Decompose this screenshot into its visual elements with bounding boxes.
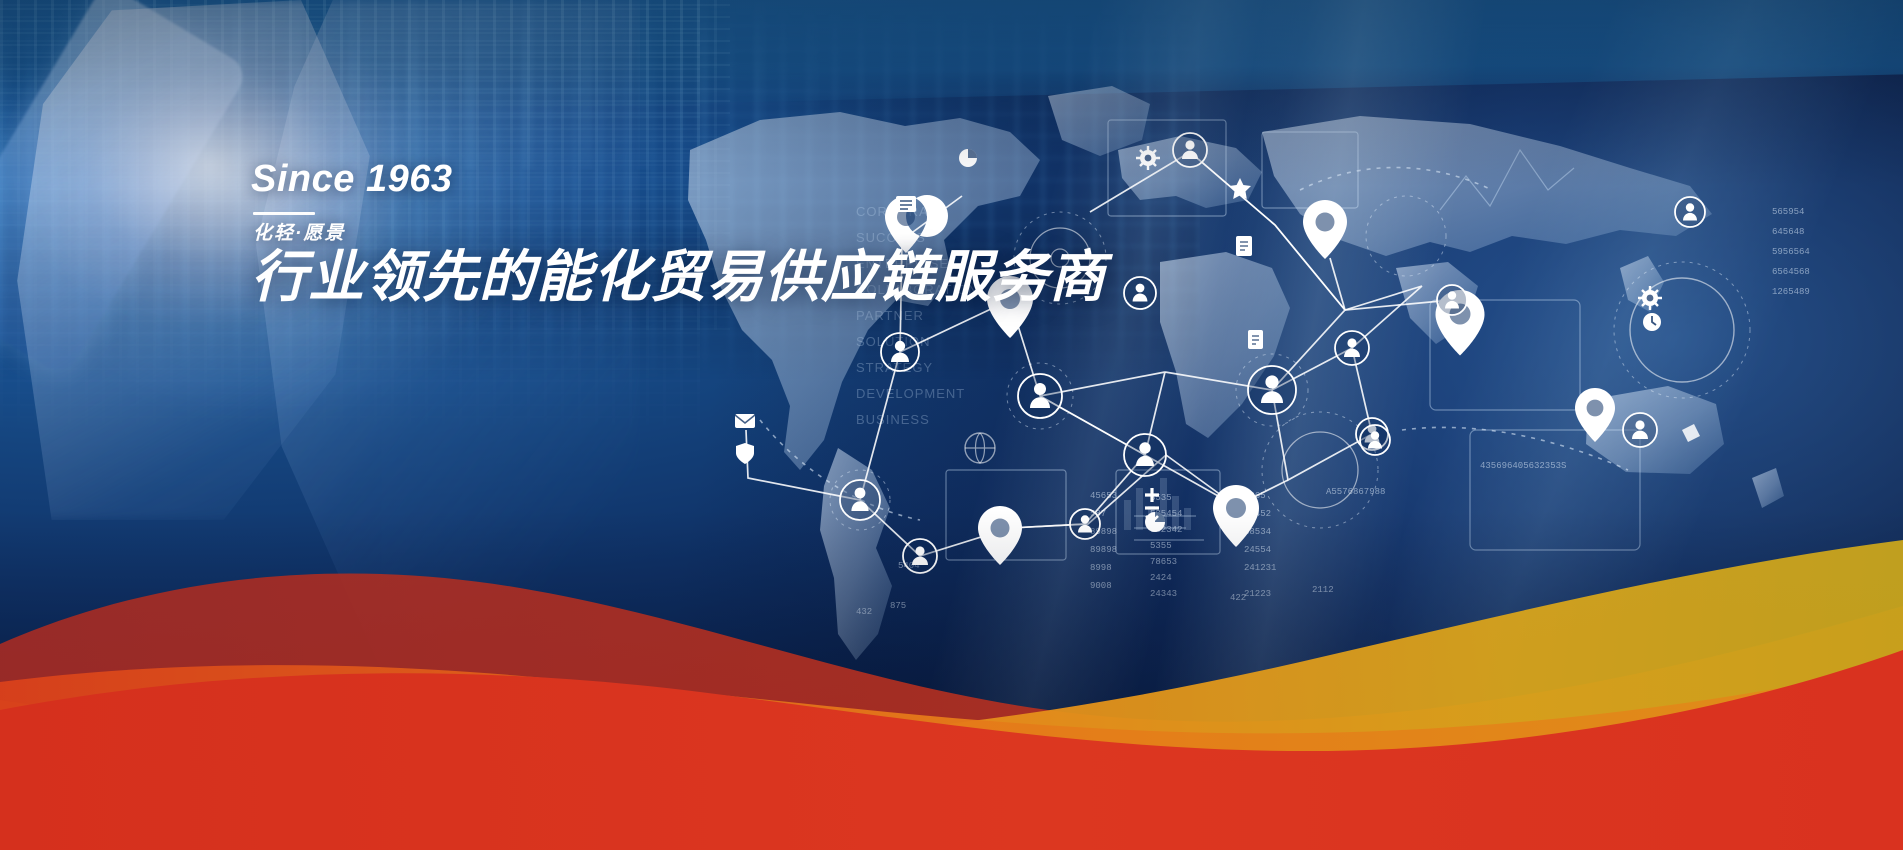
horizontal-rule [253,212,315,215]
wave-decoration [0,0,1903,850]
hero-banner: CORPORATE SUCCESS ENTERPRISE COLLABORATI… [0,0,1903,850]
hero-copy-block: Since 1963 化轻·愿景 行业领先的能化贸易供应链服务商 [251,160,1106,307]
since-label: Since 1963 [251,160,1106,198]
page-title: 行业领先的能化贸易供应链服务商 [251,247,1106,307]
vision-label: 化轻·愿景 [253,224,1106,243]
